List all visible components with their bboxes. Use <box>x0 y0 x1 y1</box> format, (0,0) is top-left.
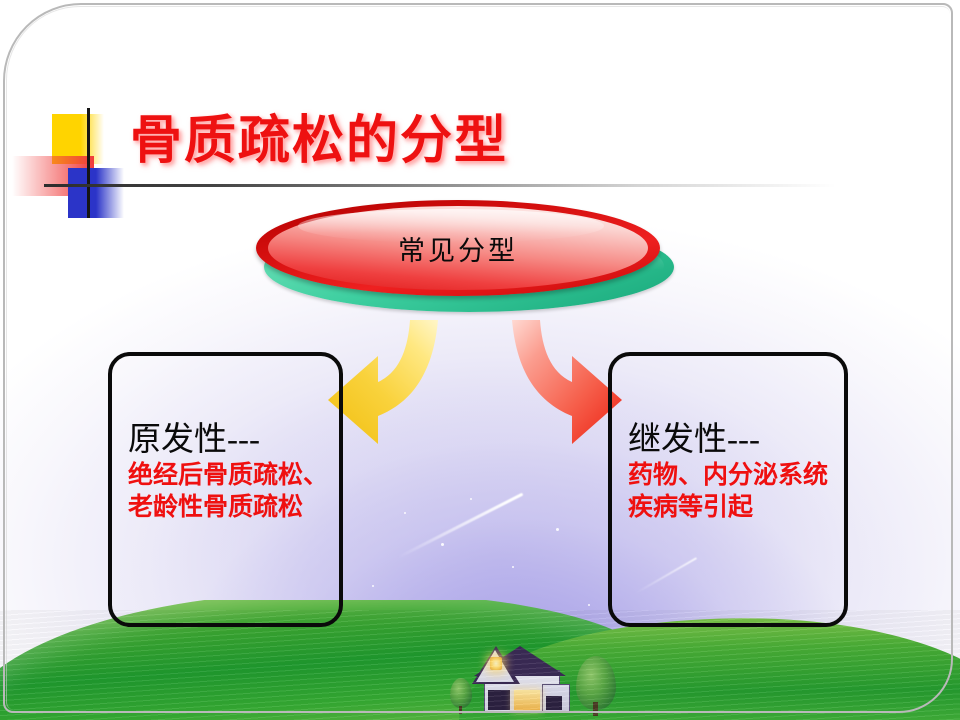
star-icon <box>512 566 514 568</box>
title-underline <box>44 184 944 187</box>
textbox-secondary[interactable]: 继发性--- 药物、内分泌系统疾病等引起 <box>608 352 848 627</box>
slide-canvas: 骨质疏松的分型 常见分型 <box>0 0 960 720</box>
center-node[interactable]: 常见分型 <box>252 200 682 318</box>
star-icon <box>441 543 444 546</box>
tree-icon <box>450 678 472 708</box>
textbox-primary-body: 绝经后骨质疏松、老龄性骨质疏松 <box>128 460 328 524</box>
deco-vertical-line <box>87 108 90 218</box>
textbox-secondary-body: 药物、内分泌系统疾病等引起 <box>628 460 834 524</box>
center-node-label: 常见分型 <box>268 206 648 290</box>
deco-blue-square <box>68 168 124 218</box>
star-icon <box>556 528 559 531</box>
house-icon <box>466 634 574 712</box>
star-icon <box>404 512 406 514</box>
arrow-down-left-icon <box>326 318 456 454</box>
arrow-down-right-icon <box>492 318 624 454</box>
star-icon <box>470 498 472 500</box>
textbox-primary-heading: 原发性--- <box>128 412 260 460</box>
textbox-primary[interactable]: 原发性--- 绝经后骨质疏松、老龄性骨质疏松 <box>108 352 343 627</box>
tree-icon <box>576 656 616 710</box>
page-title: 骨质疏松的分型 <box>130 98 508 173</box>
star-icon <box>372 585 374 587</box>
textbox-secondary-heading: 继发性--- <box>628 412 760 460</box>
